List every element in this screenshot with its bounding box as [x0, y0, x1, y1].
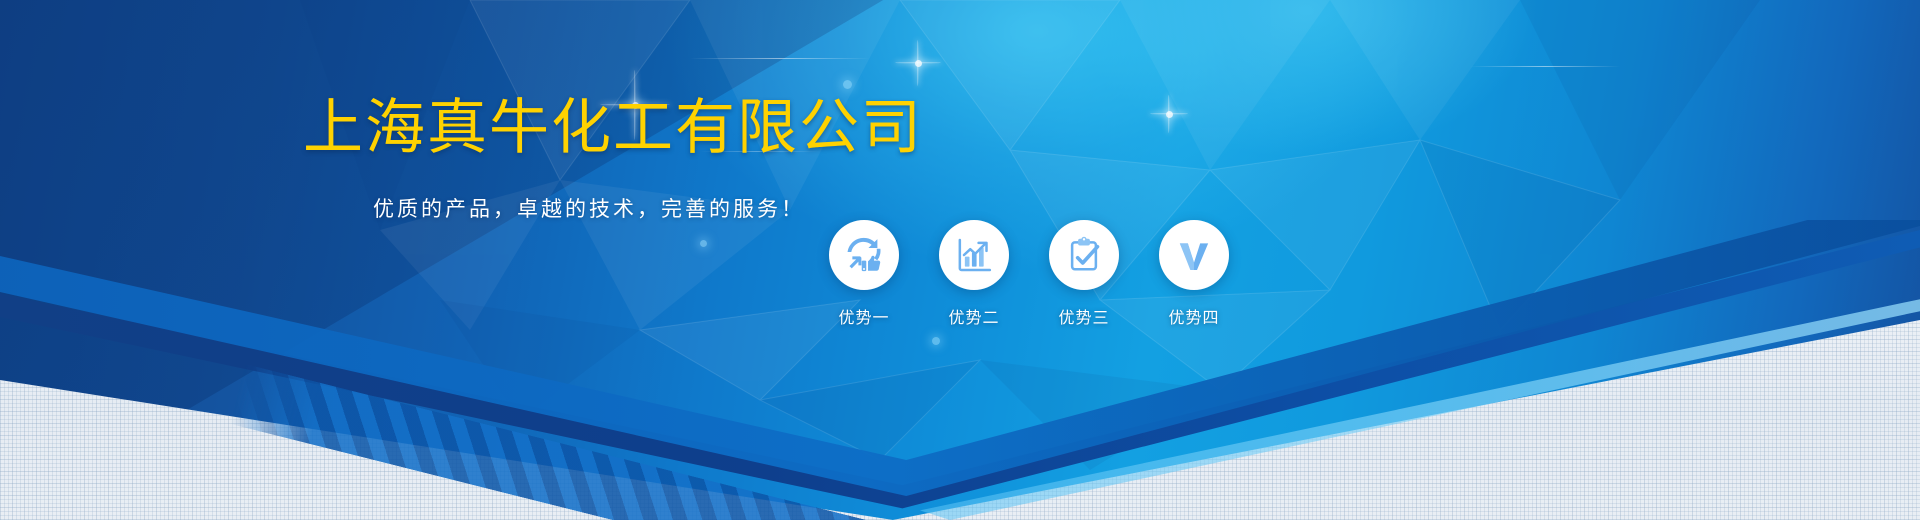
feature-label: 优势四: [1168, 304, 1219, 328]
feature-icon-circle: [1159, 220, 1229, 290]
clipboard-check-icon: [1065, 236, 1103, 274]
feature-label: 优势二: [948, 304, 999, 328]
banner-content: 上海真牛化工有限公司 优质的产品，卓越的技术，完善的服务！: [0, 0, 1920, 520]
feature-icon-circle: [939, 220, 1009, 290]
banner-subtitle: 优质的产品，卓越的技术，完善的服务！: [373, 196, 805, 224]
feature-item-1[interactable]: 优势一: [828, 220, 900, 328]
feature-item-3[interactable]: 优势三: [1048, 220, 1120, 328]
bar-chart-growth-icon: [954, 235, 994, 275]
feature-icon-circle: [829, 220, 899, 290]
v-check-icon: [1174, 235, 1214, 275]
feature-item-2[interactable]: 优势二: [938, 220, 1010, 328]
feature-item-4[interactable]: 优势四: [1158, 220, 1230, 328]
refresh-thumbs-up-icon: [843, 234, 885, 276]
company-hero-banner: 上海真牛化工有限公司 优质的产品，卓越的技术，完善的服务！: [0, 0, 1920, 520]
feature-label: 优势三: [1058, 304, 1109, 328]
page-title: 上海真牛化工有限公司: [303, 96, 923, 160]
feature-label: 优势一: [838, 304, 889, 328]
feature-list: 优势一 优势二: [828, 220, 1230, 328]
feature-icon-circle: [1049, 220, 1119, 290]
